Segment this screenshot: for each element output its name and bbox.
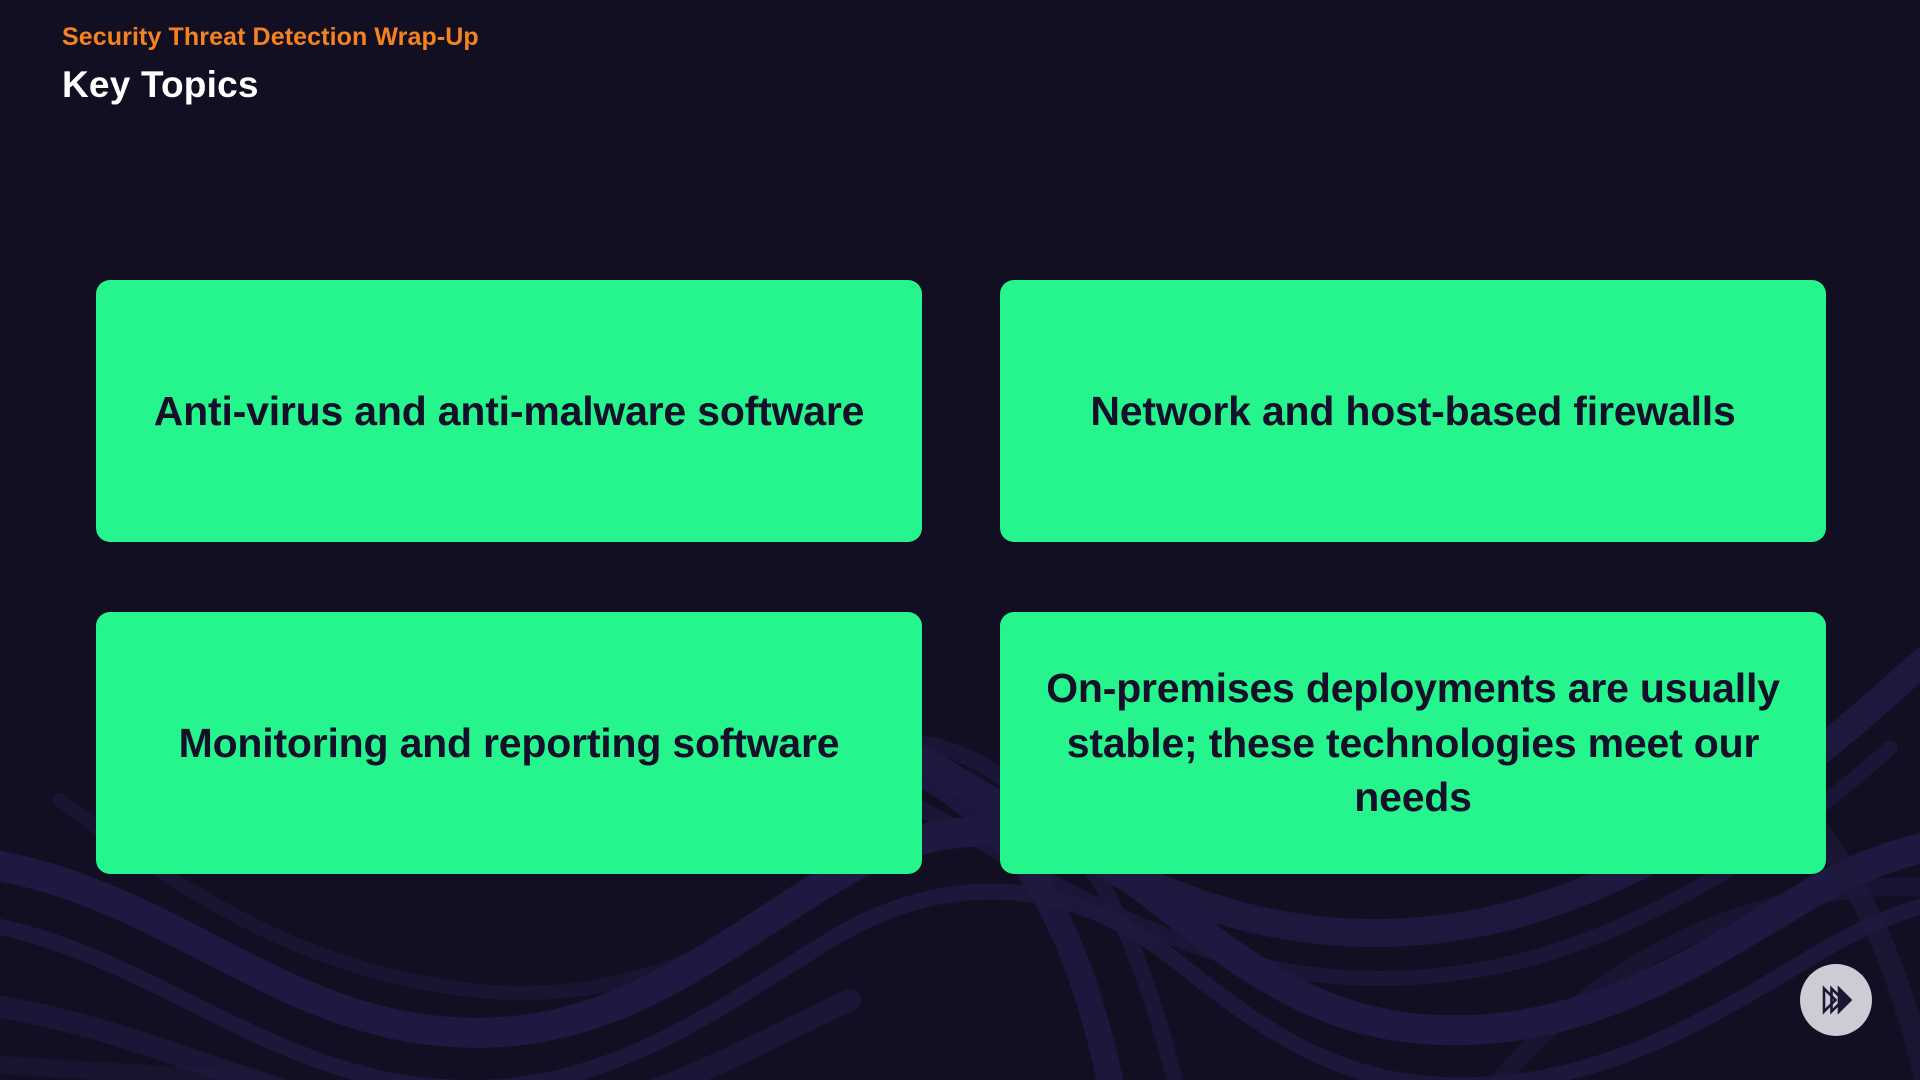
topic-card-4[interactable]: On-premises deployments are usually stab… xyxy=(1000,612,1826,874)
topic-card-label: Monitoring and reporting software xyxy=(179,716,840,771)
topic-card-label: Anti-virus and anti-malware software xyxy=(154,384,864,439)
deck-eyebrow-title: Security Threat Detection Wrap-Up xyxy=(62,22,479,52)
page-title: Key Topics xyxy=(62,62,479,108)
topic-card-2[interactable]: Network and host-based firewalls xyxy=(1000,280,1826,542)
topic-card-1[interactable]: Anti-virus and anti-malware software xyxy=(96,280,922,542)
topic-card-3[interactable]: Monitoring and reporting software xyxy=(96,612,922,874)
topic-card-label: On-premises deployments are usually stab… xyxy=(1046,661,1780,825)
slide-header: Security Threat Detection Wrap-Up Key To… xyxy=(62,22,479,108)
play-triangle-icon xyxy=(1817,981,1855,1019)
slide: Security Threat Detection Wrap-Up Key To… xyxy=(0,0,1920,1080)
topic-card-label: Network and host-based firewalls xyxy=(1090,384,1735,439)
topic-card-grid: Anti-virus and anti-malware software Net… xyxy=(96,280,1826,874)
prezi-play-logo-button[interactable] xyxy=(1800,964,1872,1036)
